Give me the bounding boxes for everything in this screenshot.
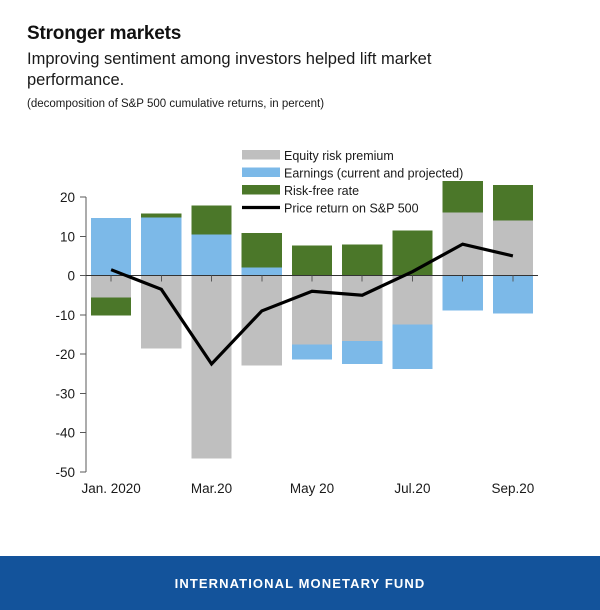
legend-item[interactable]: Earnings (current and projected) (242, 167, 463, 181)
y-axis-tick-label: -30 (55, 386, 75, 401)
bar-segment[interactable] (141, 217, 181, 275)
y-axis-tick-label: -50 (55, 465, 75, 480)
bar-stack[interactable] (493, 185, 533, 313)
imf-footer-bar: INTERNATIONAL MONETARY FUND (0, 556, 600, 610)
y-axis-tick-label: -40 (55, 426, 75, 441)
y-axis-tick-label: -20 (55, 347, 75, 362)
bar-segment[interactable] (242, 276, 282, 366)
legend-item[interactable]: Price return on S&P 500 (242, 202, 419, 216)
page-subtitle: Improving sentiment among investors help… (27, 49, 497, 91)
x-axis-tick-label: May 20 (290, 481, 334, 496)
bar-segment[interactable] (91, 218, 131, 276)
bar-stack[interactable] (392, 230, 432, 369)
legend-item[interactable]: Risk-free rate (242, 184, 359, 198)
y-axis: 20100-10-20-30-40-50 (55, 190, 86, 480)
legend-label: Earnings (current and projected) (284, 167, 463, 181)
bar-segment[interactable] (242, 268, 282, 276)
bar-segment[interactable] (342, 276, 382, 341)
bar-segment[interactable] (493, 221, 533, 276)
y-axis-tick-label: 10 (60, 229, 75, 244)
legend-swatch (242, 150, 280, 160)
bar-segment[interactable] (242, 233, 282, 268)
bar-segment[interactable] (392, 276, 432, 325)
footer-label: INTERNATIONAL MONETARY FUND (175, 576, 426, 591)
bar-stack[interactable] (242, 233, 282, 366)
bar-segment[interactable] (91, 298, 131, 316)
bar-segment[interactable] (342, 245, 382, 276)
y-axis-tick-label: 0 (67, 269, 75, 284)
x-axis-tick-label: Jul.20 (394, 481, 430, 496)
bar-segment[interactable] (443, 181, 483, 213)
y-axis-tick-label: -10 (55, 308, 75, 323)
chart-area: 20100-10-20-30-40-50Jan. 2020Mar.20May 2… (0, 130, 600, 520)
bar-stack[interactable] (191, 206, 231, 459)
bar-stack[interactable] (292, 246, 332, 360)
bar-segment[interactable] (392, 324, 432, 369)
legend-label: Price return on S&P 500 (284, 202, 419, 216)
legend-swatch (242, 168, 280, 178)
chart-legend: Equity risk premiumEarnings (current and… (242, 149, 463, 216)
stacked-bar-chart: 20100-10-20-30-40-50Jan. 2020Mar.20May 2… (0, 130, 600, 520)
legend-item[interactable]: Equity risk premium (242, 149, 394, 163)
bar-segment[interactable] (191, 235, 231, 276)
legend-label: Risk-free rate (284, 184, 359, 198)
bar-segment[interactable] (292, 345, 332, 360)
bar-segment[interactable] (141, 214, 181, 218)
legend-label: Equity risk premium (284, 149, 394, 163)
bar-segment[interactable] (191, 206, 231, 235)
bar-segment[interactable] (342, 341, 382, 364)
bar-segment[interactable] (292, 246, 332, 276)
x-axis-tick-label: Sep.20 (491, 481, 534, 496)
bars-group (91, 181, 533, 458)
bar-stack[interactable] (342, 245, 382, 364)
y-axis-tick-label: 20 (60, 190, 75, 205)
bar-segment[interactable] (191, 276, 231, 459)
chart-units-note: (decomposition of S&P 500 cumulative ret… (27, 97, 567, 111)
imf-chart-page: Stronger markets Improving sentiment amo… (0, 0, 600, 610)
chart-header: Stronger markets Improving sentiment amo… (27, 22, 567, 111)
bar-segment[interactable] (493, 185, 533, 220)
page-title: Stronger markets (27, 22, 567, 46)
legend-swatch (242, 185, 280, 195)
bar-segment[interactable] (292, 276, 332, 345)
x-axis-tick-label: Jan. 2020 (81, 481, 140, 496)
bar-stack[interactable] (91, 218, 131, 316)
x-axis-tick-label: Mar.20 (191, 481, 232, 496)
bar-segment[interactable] (392, 230, 432, 275)
